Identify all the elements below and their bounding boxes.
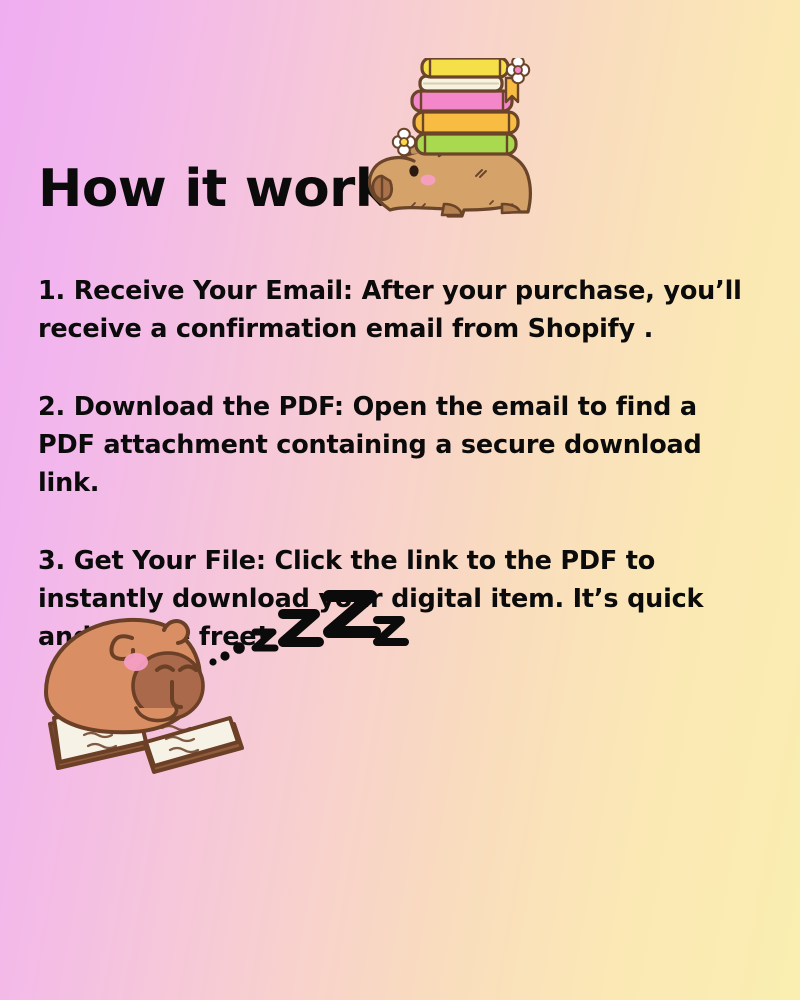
capybara-with-books-illustration [352, 58, 552, 247]
zzz-sleep-marks [205, 588, 415, 682]
step-item-1: 1. Receive Your Email: After your purcha… [38, 272, 758, 348]
step-item-2: 2. Download the PDF: Open the email to f… [38, 388, 758, 502]
poster-canvas: How it works [0, 0, 800, 1000]
